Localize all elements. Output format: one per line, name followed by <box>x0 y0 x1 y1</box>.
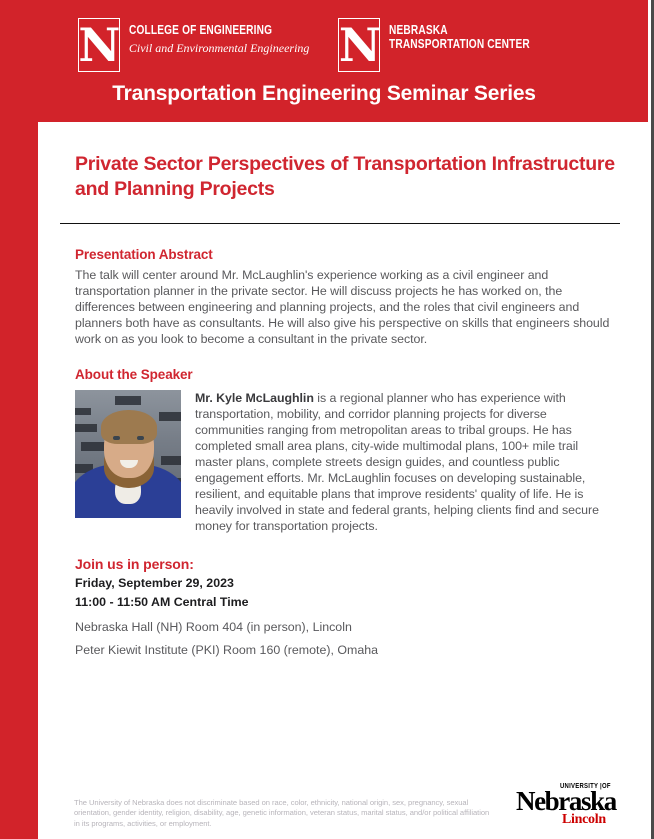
abstract-body: The talk will center around Mr. McLaughl… <box>75 267 613 347</box>
block-n-icon: N <box>338 18 380 72</box>
join-heading: Join us in person: <box>75 556 619 573</box>
block-n-icon: N <box>78 18 120 72</box>
wordmark-nebraska: Nebraska <box>516 787 616 815</box>
header-band: N COLLEGE OF ENGINEERING Civil and Envir… <box>0 0 648 122</box>
university-of-nebraska-lincoln-wordmark: UNIVERSITY |OF Nebraska Lincoln <box>514 781 626 829</box>
seminar-series-title: Transportation Engineering Seminar Serie… <box>0 82 648 106</box>
college-of-engineering-logo: N COLLEGE OF ENGINEERING Civil and Envir… <box>78 18 313 72</box>
speaker-bio-text: is a regional planner who has experience… <box>195 391 599 533</box>
abstract-heading: Presentation Abstract <box>75 246 619 263</box>
nebraska-transportation-center-logo: N NEBRASKA TRANSPORTATION CENTER <box>338 18 570 72</box>
footer: The University of Nebraska does not disc… <box>38 781 648 829</box>
ntc-logo-line2: TRANSPORTATION CENTER <box>389 37 530 51</box>
join-location-in-person: Nebraska Hall (NH) Room 404 (in person),… <box>75 619 619 635</box>
speaker-headshot-image <box>75 390 181 518</box>
seminar-flyer-page: N COLLEGE OF ENGINEERING Civil and Envir… <box>0 0 654 839</box>
join-time: 11:00 - 11:50 AM Central Time <box>75 595 619 611</box>
nondiscrimination-disclaimer: The University of Nebraska does not disc… <box>74 798 494 830</box>
speaker-block: Mr. Kyle McLaughlin is a regional planne… <box>75 390 619 534</box>
college-logo-line1: COLLEGE OF ENGINEERING <box>129 23 272 37</box>
wordmark-lincoln: Lincoln <box>562 812 606 827</box>
left-red-rail <box>0 0 38 839</box>
speaker-bio: Mr. Kyle McLaughlin is a regional planne… <box>195 390 613 534</box>
join-location-remote: Peter Kiewit Institute (PKI) Room 160 (r… <box>75 642 619 658</box>
page-title: Private Sector Perspectives of Transport… <box>75 152 619 202</box>
title-divider <box>60 223 620 224</box>
college-logo-subtitle: Civil and Environmental Engineering <box>129 41 313 56</box>
header-logos-row: N COLLEGE OF ENGINEERING Civil and Envir… <box>0 18 648 72</box>
join-date: Friday, September 29, 2023 <box>75 576 619 592</box>
content-card: Private Sector Perspectives of Transport… <box>38 122 648 839</box>
speaker-name: Mr. Kyle McLaughlin <box>195 391 314 405</box>
ntc-logo-line1: NEBRASKA <box>389 23 530 37</box>
speaker-heading: About the Speaker <box>75 366 619 383</box>
